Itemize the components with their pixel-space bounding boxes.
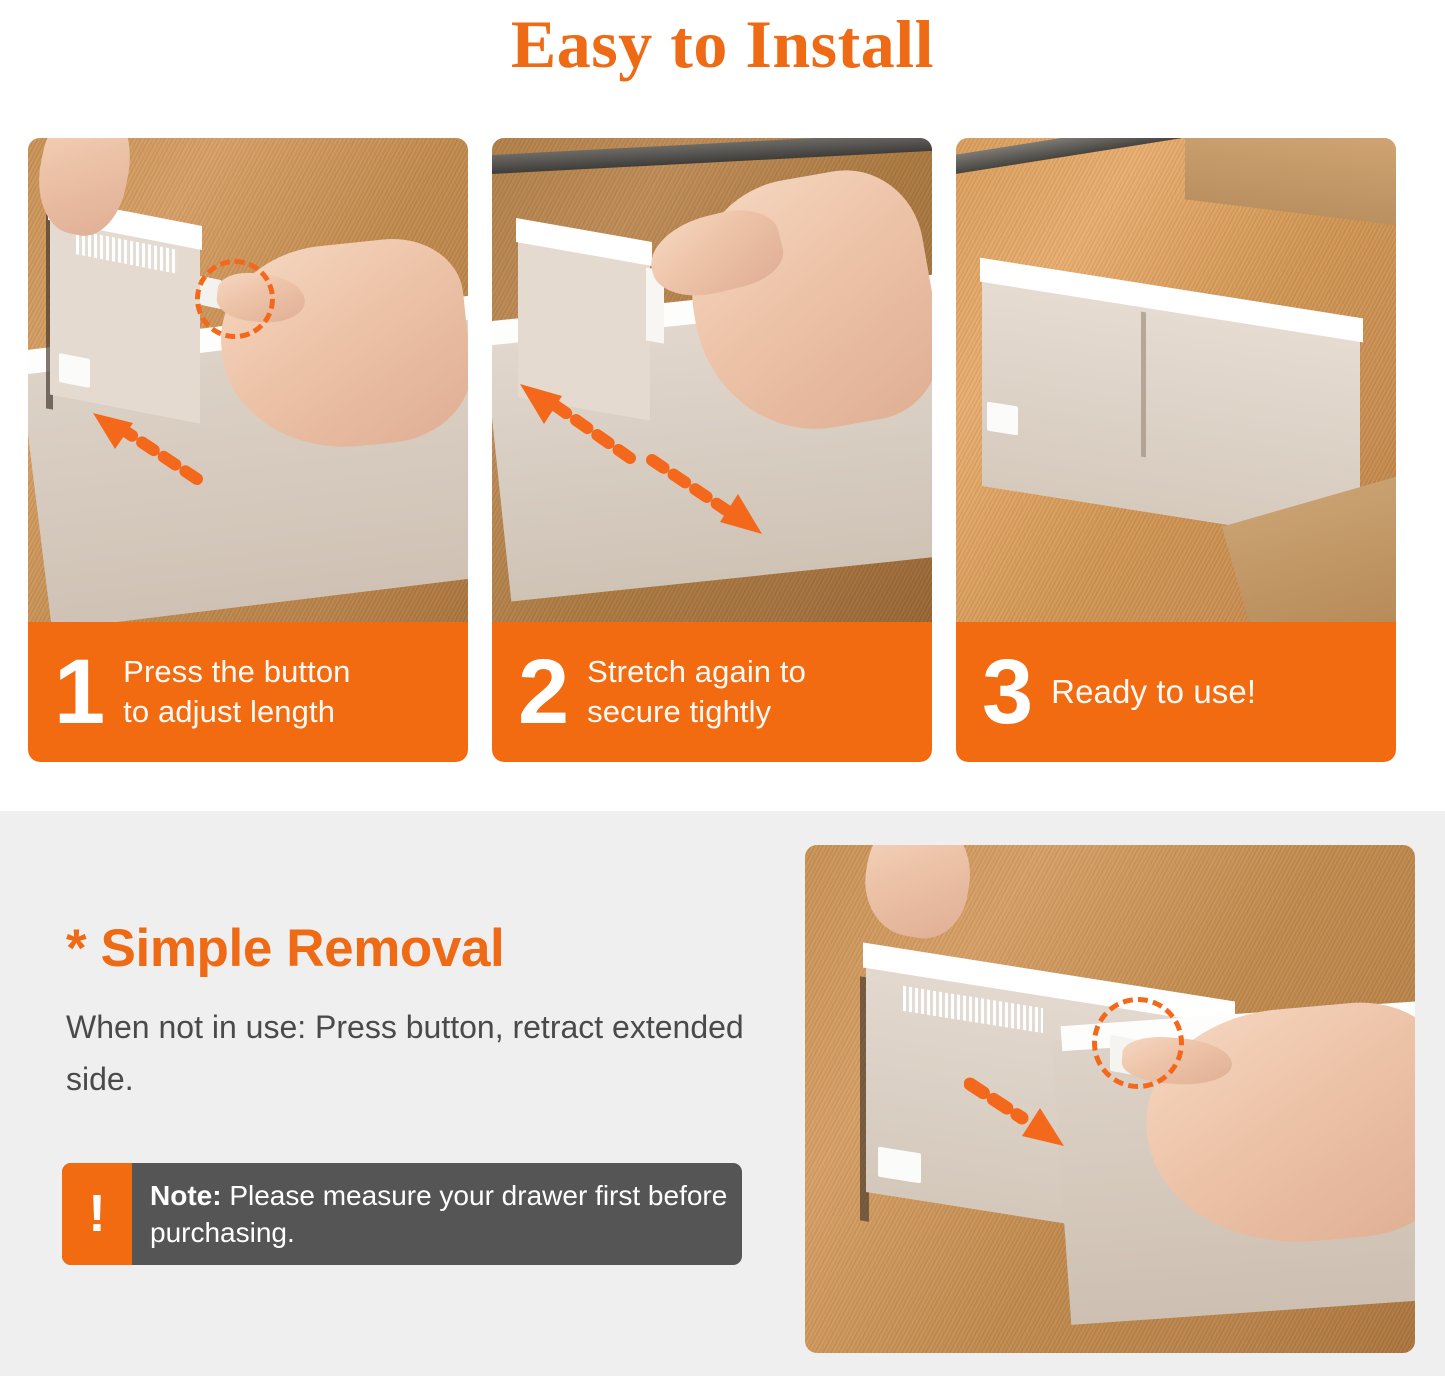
- divider-foot: [59, 353, 90, 388]
- step-1-text-line1: Press the button: [123, 654, 350, 689]
- step-2-caption: 2 Stretch again to secure tightly: [492, 622, 932, 762]
- note-label: Note:: [150, 1180, 222, 1211]
- step-1-number: 1: [54, 644, 105, 740]
- step-1-text: Press the button to adjust length: [123, 652, 350, 732]
- step-2-text-line2: secure tightly: [587, 694, 771, 729]
- install-section: Easy to Install: [0, 0, 1445, 811]
- step-1-text-line2: to adjust length: [123, 694, 335, 729]
- button-highlight-circle: [195, 259, 275, 339]
- retract-direction-arrow-icon: [964, 1074, 1074, 1154]
- step-2-text: Stretch again to secure tightly: [587, 652, 806, 732]
- step-2-text-line1: Stretch again to: [587, 654, 806, 689]
- install-step-2: 2 Stretch again to secure tightly: [492, 138, 932, 762]
- install-steps: 1 Press the button to adjust length: [28, 138, 1418, 762]
- stretch-right-arrow-icon: [642, 448, 772, 538]
- note-bar: ! Note: Please measure your drawer first…: [62, 1163, 742, 1265]
- exclamation-icon: !: [62, 1163, 132, 1265]
- removal-heading: * Simple Removal: [66, 918, 504, 979]
- page-title: Easy to Install: [0, 4, 1445, 84]
- install-step-1: 1 Press the button to adjust length: [28, 138, 468, 762]
- step-3-number: 3: [982, 644, 1033, 740]
- step-3-text: Ready to use!: [1051, 672, 1256, 712]
- divider-foot: [987, 402, 1018, 436]
- step-1-caption: 1 Press the button to adjust length: [28, 622, 468, 762]
- divider-seam: [1141, 312, 1146, 458]
- step-3-photo: [956, 138, 1396, 622]
- step-2-photo: [492, 138, 932, 622]
- note-text: Note: Please measure your drawer first b…: [132, 1163, 742, 1265]
- product-infographic: Easy to Install: [0, 0, 1445, 1376]
- step-2-number: 2: [518, 644, 569, 740]
- adjust-direction-arrow-icon: [85, 409, 205, 489]
- removal-photo: [805, 845, 1415, 1353]
- step-1-photo: [28, 138, 468, 622]
- step-3-caption: 3 Ready to use!: [956, 622, 1396, 762]
- removal-section: * Simple Removal When not in use: Press …: [0, 811, 1445, 1376]
- install-step-3: 3 Ready to use!: [956, 138, 1396, 762]
- stretch-left-arrow-icon: [510, 380, 640, 470]
- note-body: Please measure your drawer first before …: [150, 1180, 727, 1248]
- button-highlight-circle: [1092, 997, 1184, 1089]
- removal-body-text: When not in use: Press button, retract e…: [66, 1001, 771, 1105]
